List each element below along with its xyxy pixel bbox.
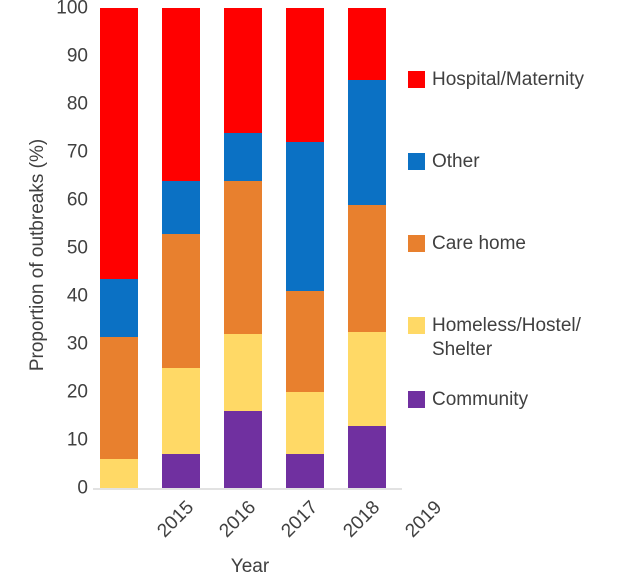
legend-label: Hospital/Maternity (432, 68, 584, 92)
legend-label: Care home (432, 232, 526, 256)
legend-item[interactable]: Community (408, 388, 528, 412)
legend-item[interactable]: Homeless/Hostel/ Shelter (408, 314, 581, 362)
x-axis-tick: 2019 (401, 497, 446, 542)
legend-item[interactable]: Hospital/Maternity (408, 68, 584, 92)
legend-color-swatch (408, 391, 425, 408)
legend-label: Homeless/Hostel/ Shelter (432, 314, 581, 362)
x-axis-tick: 2016 (215, 497, 260, 542)
legend-label: Other (432, 150, 480, 174)
stacked-bar-chart: Proportion of outbreaks (%) 010203040506… (0, 0, 620, 584)
legend-color-swatch (408, 153, 425, 170)
x-axis-tick: 2017 (277, 497, 322, 542)
legend-item[interactable]: Other (408, 150, 480, 174)
x-axis-tick: 2018 (339, 497, 384, 542)
legend-color-swatch (408, 71, 425, 88)
legend-label: Community (432, 388, 528, 412)
x-axis-tick: 2015 (153, 497, 198, 542)
legend-color-swatch (408, 235, 425, 252)
legend-color-swatch (408, 317, 425, 334)
x-axis-title: Year (150, 556, 350, 578)
legend-item[interactable]: Care home (408, 232, 526, 256)
